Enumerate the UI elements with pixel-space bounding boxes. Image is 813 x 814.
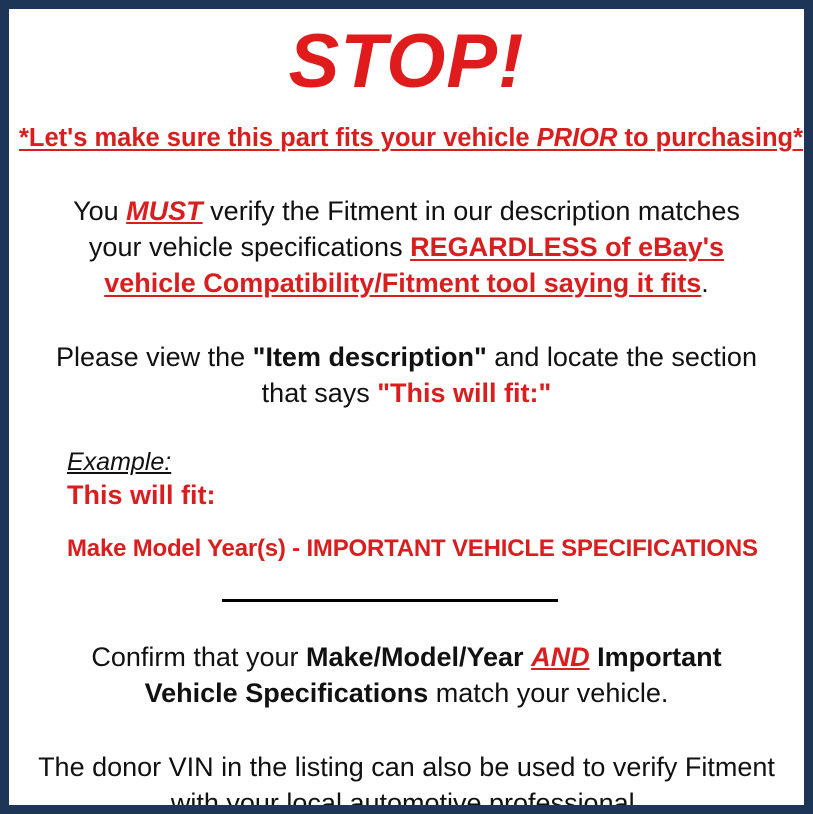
section-divider: [222, 599, 558, 602]
and-emphasis: AND: [531, 642, 590, 672]
example-label: Example:: [67, 447, 171, 477]
confirm-paragraph-part2: match your vehicle.: [428, 678, 668, 708]
divider-wrap: [19, 589, 794, 607]
example-fit-heading: This will fit:: [67, 479, 794, 511]
subtitle-trail-text: to purchasing*: [617, 124, 803, 152]
subtitle-prior-emphasis: PRIOR: [537, 124, 618, 152]
must-paragraph-part3: .: [701, 268, 709, 298]
view-description-paragraph: Please view the "Item description" and l…: [19, 339, 794, 411]
subtitle-lead-text: *Let's make sure this part fits your veh…: [19, 124, 537, 152]
confirm-paragraph-part1: Confirm that your: [91, 642, 306, 672]
must-paragraph-part1: You: [73, 196, 126, 226]
must-verify-paragraph: You MUST verify the Fitment in our descr…: [19, 193, 794, 301]
fitment-notice-card: STOP! *Let's make sure this part fits yo…: [0, 0, 813, 814]
confirm-paragraph: Confirm that your Make/Model/Year AND Im…: [19, 639, 794, 711]
donor-vin-paragraph: The donor VIN in the listing can also be…: [19, 749, 794, 814]
example-block: Example: This will fit: Make Model Year(…: [19, 447, 794, 563]
item-description-label: "Item description": [253, 342, 487, 372]
confirm-space-2: [590, 642, 598, 672]
this-will-fit-quote: "This will fit:": [377, 378, 551, 408]
view-paragraph-part1: Please view the: [56, 342, 253, 372]
example-spec-line: Make Model Year(s) - IMPORTANT VEHICLE S…: [67, 535, 794, 563]
make-model-year-emphasis: Make/Model/Year: [306, 642, 524, 672]
must-emphasis: MUST: [126, 196, 203, 226]
notice-content: STOP! *Let's make sure this part fits yo…: [9, 19, 804, 814]
example-label-row: Example:: [67, 447, 794, 477]
subtitle-banner: *Let's make sure this part fits your veh…: [19, 123, 794, 153]
stop-headline: STOP!: [19, 19, 794, 105]
confirm-space-1: [524, 642, 532, 672]
